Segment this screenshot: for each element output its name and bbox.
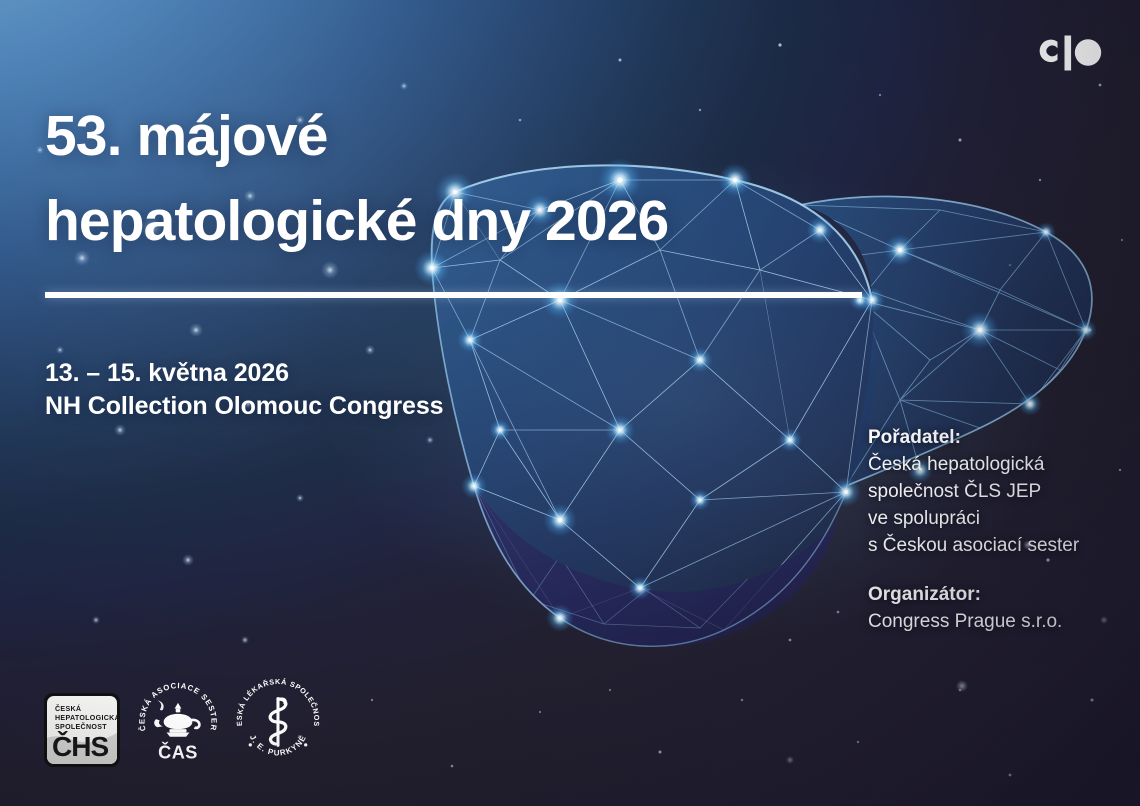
poster-canvas: 53. májové hepatologické dny 2026 13. – …: [0, 0, 1140, 806]
vignette-overlay: [0, 0, 1140, 806]
